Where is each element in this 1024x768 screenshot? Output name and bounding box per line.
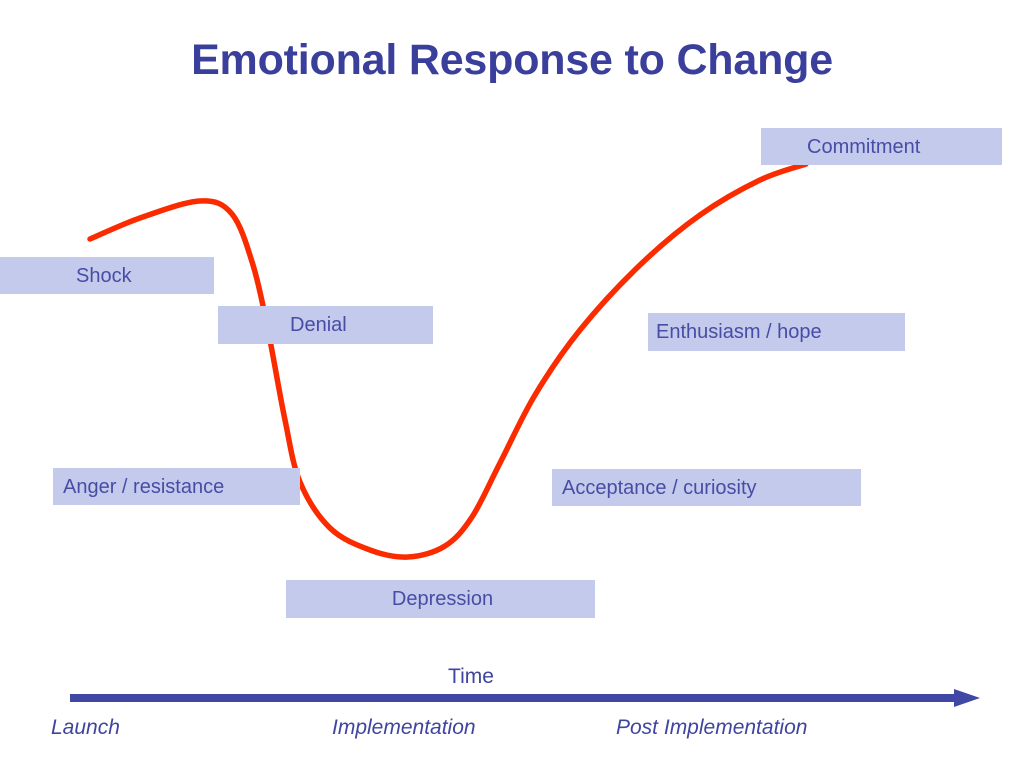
stage-box-anger-resistance[interactable]: Anger / resistance	[53, 468, 300, 505]
axis-arrow-head	[954, 689, 980, 707]
stage-box-depression[interactable]: Depression	[286, 580, 595, 618]
stage-label-commitment: Commitment	[761, 137, 920, 157]
axis-tick-launch: Launch	[51, 716, 120, 740]
stage-box-shock[interactable]: Shock	[0, 257, 214, 294]
axis-tick-post-implementation: Post Implementation	[616, 716, 807, 740]
stage-box-enthusiasm-hope[interactable]: Enthusiasm / hope	[648, 313, 905, 351]
stage-box-acceptance-curiosity[interactable]: Acceptance / curiosity	[552, 469, 861, 506]
axis-tick-implementation: Implementation	[332, 716, 476, 740]
stage-box-denial[interactable]: Denial	[218, 306, 433, 344]
stage-box-commitment[interactable]: Commitment	[761, 128, 1002, 165]
axis-arrow-shaft	[70, 694, 958, 702]
stage-label-shock: Shock	[0, 266, 132, 286]
stage-label-anger-resistance: Anger / resistance	[53, 477, 224, 497]
stage-label-acceptance-curiosity: Acceptance / curiosity	[552, 478, 757, 498]
time-axis-arrow	[70, 686, 980, 710]
emotional-response-curve	[0, 0, 1024, 768]
slide-canvas: Emotional Response to Change Shock Denia…	[0, 0, 1024, 768]
stage-label-depression: Depression	[388, 589, 493, 609]
stage-label-enthusiasm-hope: Enthusiasm / hope	[648, 322, 822, 342]
stage-label-denial: Denial	[218, 315, 347, 335]
